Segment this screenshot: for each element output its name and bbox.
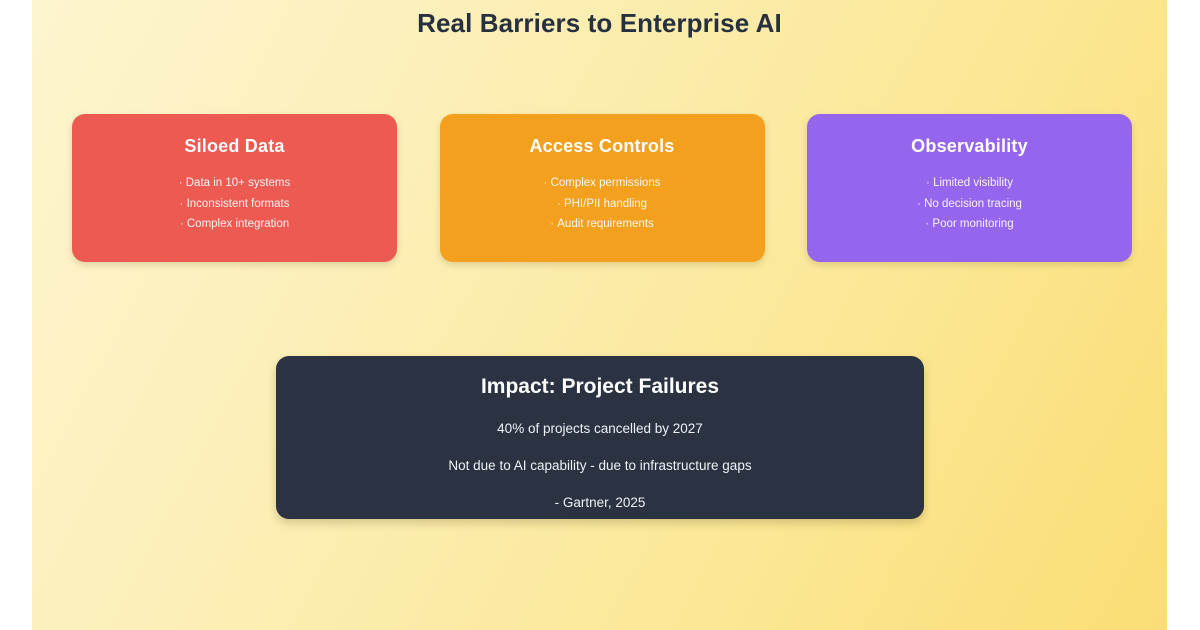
barrier-card-list: Complex permissions PHI/PII handling Aud…: [440, 173, 765, 235]
list-item: No decision tracing: [807, 194, 1132, 215]
barrier-card-siloed-data: Siloed Data Data in 10+ systems Inconsis…: [72, 114, 397, 262]
list-item: Limited visibility: [807, 173, 1132, 194]
barrier-card-title: Siloed Data: [72, 136, 397, 157]
page-title: Real Barriers to Enterprise AI: [32, 8, 1167, 39]
impact-panel: Impact: Project Failures 40% of projects…: [276, 356, 924, 519]
list-item: Complex integration: [72, 214, 397, 235]
list-item: PHI/PII handling: [440, 194, 765, 215]
barrier-card-list: Data in 10+ systems Inconsistent formats…: [72, 173, 397, 235]
list-item: Inconsistent formats: [72, 194, 397, 215]
list-item: Poor monitoring: [807, 214, 1132, 235]
list-item: Complex permissions: [440, 173, 765, 194]
impact-panel-title: Impact: Project Failures: [276, 375, 924, 399]
barrier-card-observability: Observability Limited visibility No deci…: [807, 114, 1132, 262]
slide-canvas: Real Barriers to Enterprise AI Siloed Da…: [32, 0, 1167, 630]
barrier-cards-row: Siloed Data Data in 10+ systems Inconsis…: [72, 114, 1132, 262]
list-item: Audit requirements: [440, 214, 765, 235]
barrier-card-access-controls: Access Controls Complex permissions PHI/…: [440, 114, 765, 262]
impact-stat: 40% of projects cancelled by 2027: [276, 420, 924, 438]
impact-detail: Not due to AI capability - due to infras…: [276, 457, 924, 475]
barrier-card-title: Access Controls: [440, 136, 765, 157]
impact-source-citation: - Gartner, 2025: [276, 494, 924, 512]
barrier-card-list: Limited visibility No decision tracing P…: [807, 173, 1132, 235]
barrier-card-title: Observability: [807, 136, 1132, 157]
list-item: Data in 10+ systems: [72, 173, 397, 194]
